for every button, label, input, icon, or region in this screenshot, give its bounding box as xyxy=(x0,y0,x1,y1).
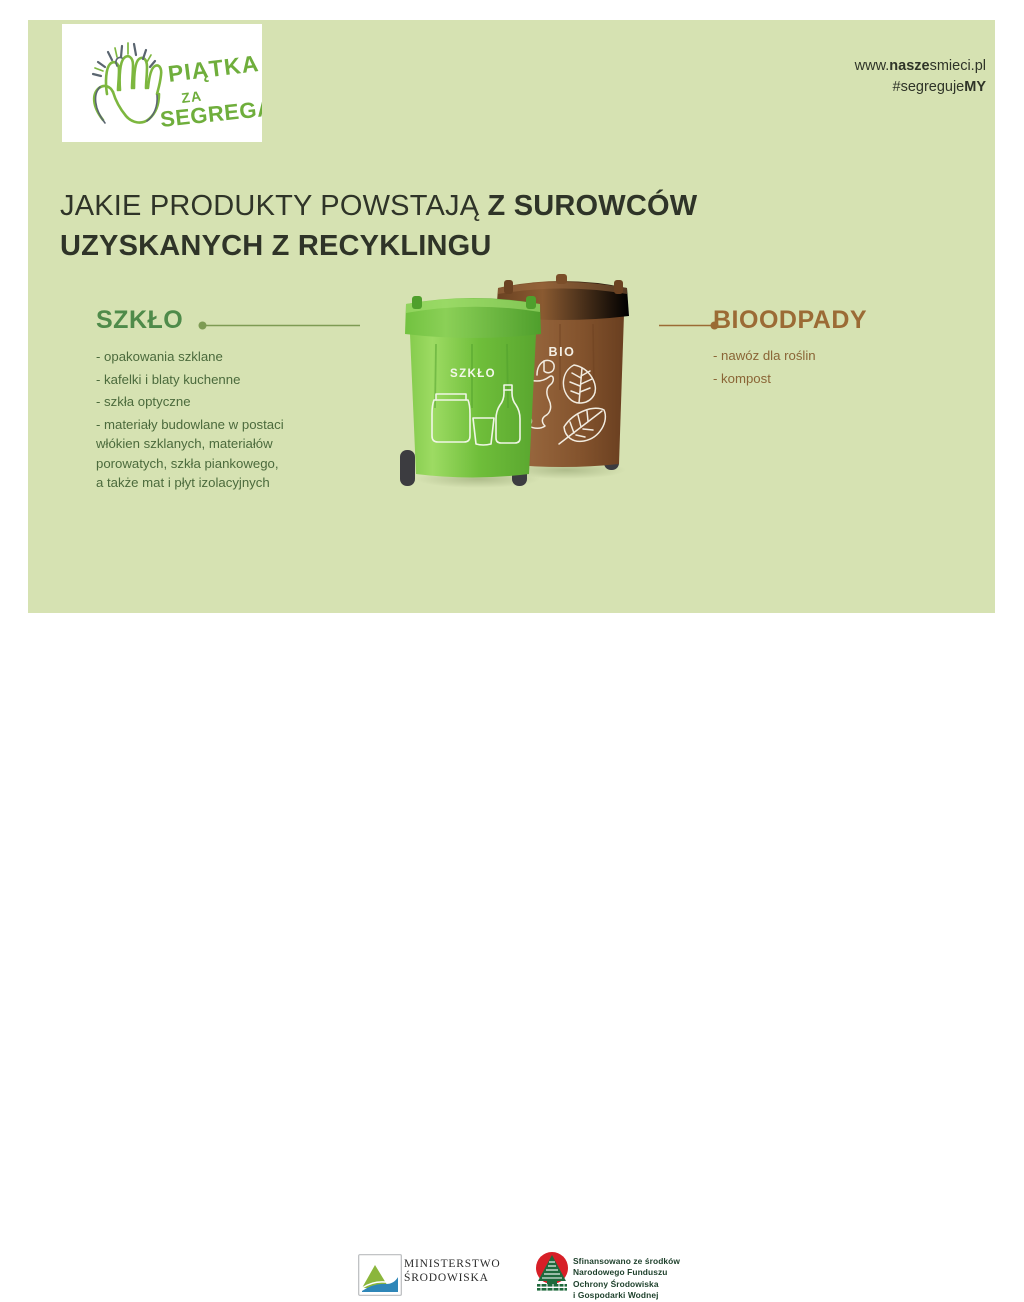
list-item: - materiały budowlane w postaci włókien … xyxy=(96,415,396,493)
piatka-za-segregacje-logo-icon: PIĄTKA ZA SEGREGACJĘ xyxy=(62,24,262,142)
connector-line-glass xyxy=(198,321,361,330)
website-suffix: smieci.pl xyxy=(930,58,986,74)
bio-column: BIOODPADY - nawóz dla roślin - kompost xyxy=(713,306,963,391)
website-bold: nasze xyxy=(889,58,929,74)
bins-illustration: BIO xyxy=(388,272,638,492)
list-item: - opakowania szklane xyxy=(96,347,396,367)
infographic-page: PIĄTKA ZA SEGREGACJĘ www.naszesmieci.pl … xyxy=(0,0,1024,724)
list-item: - nawóz dla roślin xyxy=(713,346,963,366)
logo-text-piatka: PIĄTKA xyxy=(166,50,260,87)
footer: MINISTERSTWO ŚRODOWISKA xyxy=(0,620,1024,724)
title-line2-bold: UZYSKANYCH Z RECYKLINGU xyxy=(60,230,492,262)
fund-line3: Ochrony Środowiska xyxy=(573,1279,680,1290)
nfosigw-logo-icon xyxy=(533,1251,571,1293)
page-title: JAKIE PRODUKTY POWSTAJĄ Z SUROWCÓW UZYSK… xyxy=(60,186,800,266)
top-links: www.naszesmieci.pl #segregujeMY xyxy=(855,56,986,98)
list-item: - kafelki i blaty kuchenne xyxy=(96,370,396,390)
glass-bin: SZKŁO xyxy=(400,296,541,486)
hashtag-bold: MY xyxy=(964,79,986,95)
ministry-logo-icon xyxy=(358,1254,402,1296)
title-line1-bold: Z SUROWCÓW xyxy=(488,190,698,222)
glass-list: - opakowania szklane - kafelki i blaty k… xyxy=(96,347,396,493)
website-link[interactable]: www.naszesmieci.pl xyxy=(855,56,986,77)
bin-wheel xyxy=(400,450,415,486)
fund-text: Sfinansowano ze środków Narodowego Fundu… xyxy=(573,1256,680,1302)
title-line1-light: JAKIE PRODUKTY POWSTAJĄ xyxy=(60,190,488,222)
list-item: - kompost xyxy=(713,369,963,389)
hashtag[interactable]: #segregujeMY xyxy=(855,77,986,98)
bio-bin-label: BIO xyxy=(548,345,575,359)
logo-text-segregacje: SEGREGACJĘ xyxy=(159,91,262,132)
bio-list: - nawóz dla roślin - kompost xyxy=(713,346,963,388)
fund-line4: i Gospodarki Wodnej xyxy=(573,1290,680,1301)
glass-bin-label: SZKŁO xyxy=(450,368,496,380)
glass-column: SZKŁO - opakowania szklane - kafelki i b… xyxy=(96,306,396,496)
ministry-line1: MINISTERSTWO xyxy=(404,1258,500,1272)
list-item: - szkła optyczne xyxy=(96,392,396,412)
fund-line1: Sfinansowano ze środków xyxy=(573,1256,680,1267)
connector-line-bio xyxy=(659,321,719,330)
hashtag-prefix: #segreguje xyxy=(893,79,965,95)
fund-line2: Narodowego Funduszu xyxy=(573,1267,680,1278)
logo-box: PIĄTKA ZA SEGREGACJĘ xyxy=(62,24,262,142)
ministry-line2: ŚRODOWISKA xyxy=(404,1272,500,1286)
bio-title: BIOODPADY xyxy=(713,306,963,334)
ministry-name: MINISTERSTWO ŚRODOWISKA xyxy=(404,1258,500,1285)
website-prefix: www. xyxy=(855,58,890,74)
